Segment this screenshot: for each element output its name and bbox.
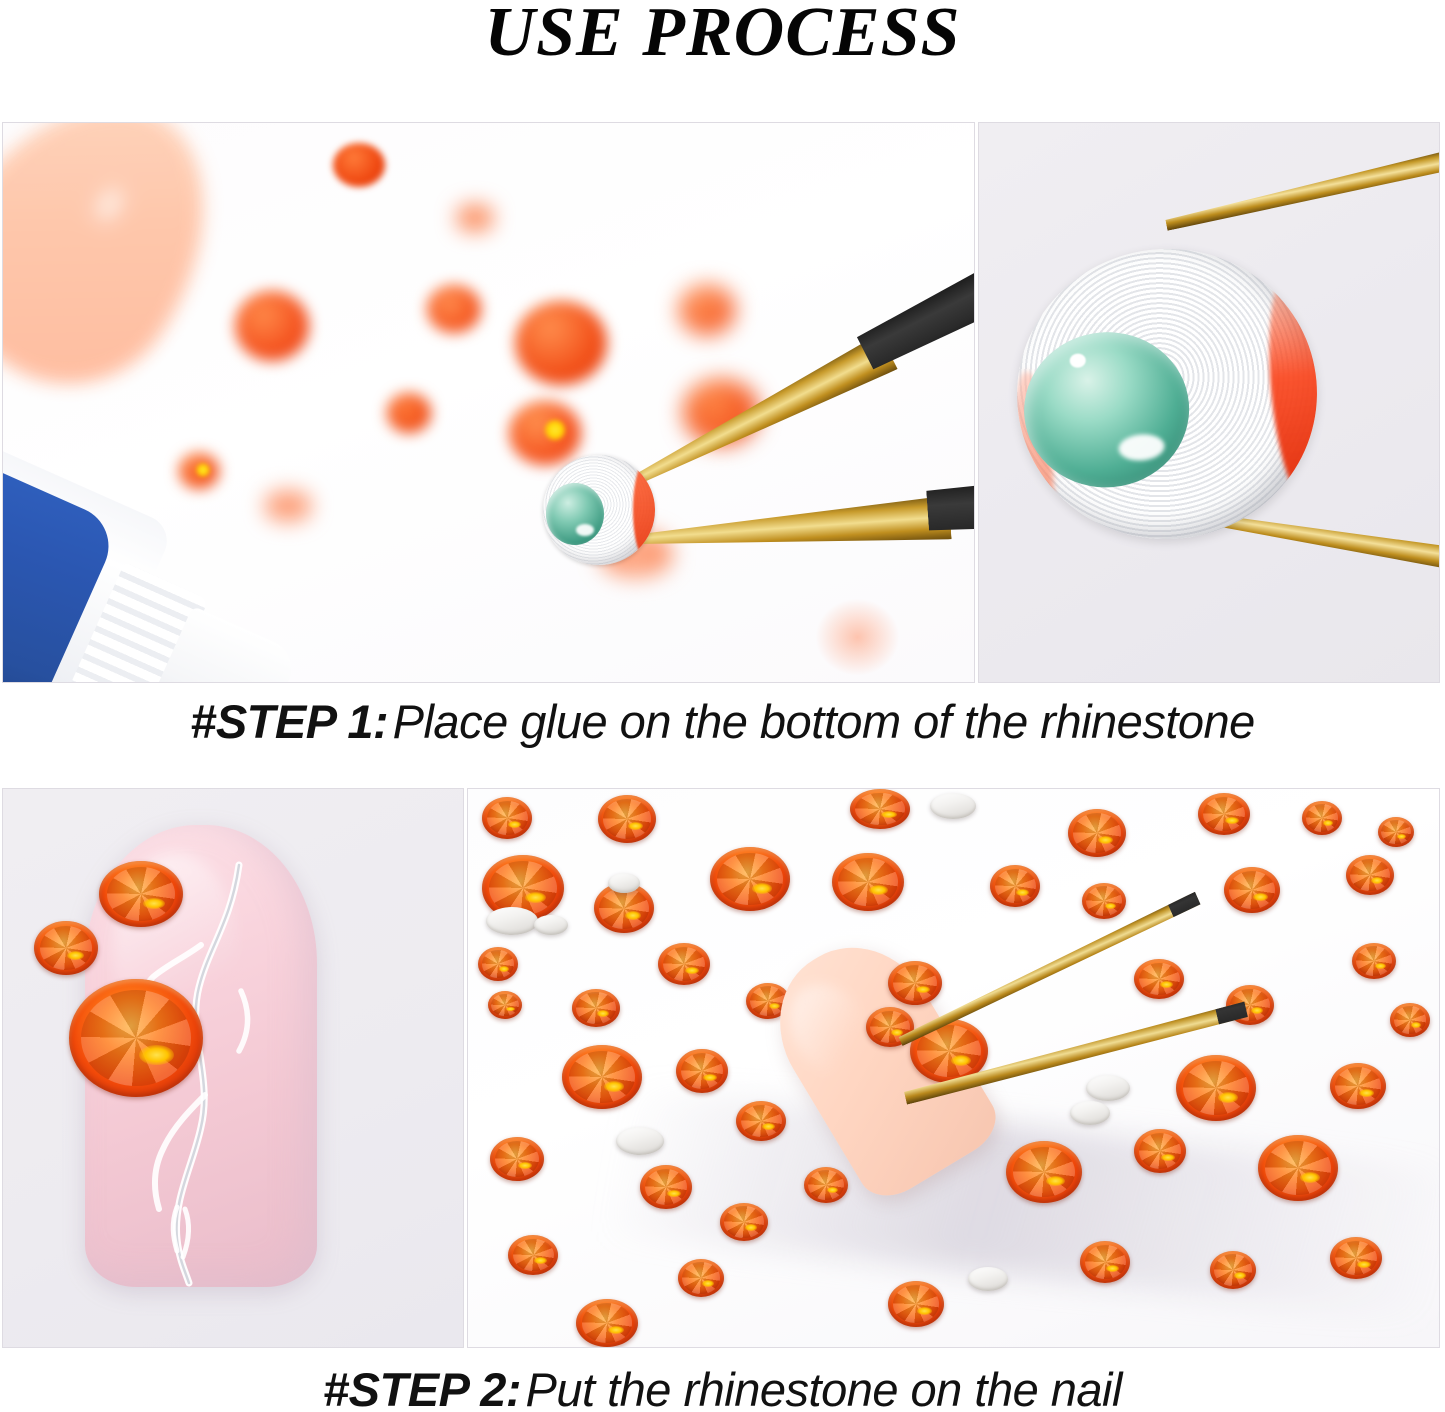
scattered-flatback (968, 1267, 1008, 1291)
scattered-rhinestone (850, 789, 910, 829)
scattered-rhinestone (1390, 1003, 1430, 1037)
bokeh-stone (235, 291, 309, 361)
scattered-rhinestone (1134, 959, 1184, 999)
scattered-flatback (608, 873, 640, 893)
scattered-rhinestone (572, 989, 620, 1027)
step-2-label: #STEP 2: (323, 1363, 521, 1412)
bokeh-stone (387, 393, 431, 433)
scattered-rhinestone (736, 1101, 786, 1141)
rhinestone-on-nail (69, 979, 203, 1097)
rhinestone-orange-rim (633, 461, 655, 559)
scattered-rhinestone (1352, 943, 1396, 979)
scattered-rhinestone (676, 1049, 728, 1093)
rhinestone-foil-back (543, 455, 655, 565)
step-1-image-row: R B (2, 122, 1443, 683)
scattered-rhinestone (508, 1235, 558, 1275)
rhinestone-on-nail (888, 961, 942, 1005)
scattered-rhinestone (1198, 793, 1250, 835)
panel-finished-nail (2, 788, 464, 1348)
glue-droplet (546, 483, 604, 545)
panel-glue-application: R B (2, 122, 975, 683)
scattered-flatback (486, 907, 538, 935)
scattered-rhinestone (1006, 1141, 1082, 1203)
scattered-rhinestone (1082, 883, 1126, 919)
scattered-rhinestone (490, 1137, 544, 1181)
bokeh-highlight (543, 419, 567, 441)
step-2-image-row (2, 788, 1443, 1348)
bokeh-stone (333, 143, 385, 187)
scattered-flatback (616, 1127, 664, 1155)
scattered-rhinestone (1258, 1135, 1338, 1201)
scattered-rhinestone (576, 1299, 638, 1347)
scattered-rhinestone (720, 1203, 768, 1241)
scattered-rhinestone (482, 797, 532, 839)
bokeh-stone (679, 285, 735, 335)
scattered-rhinestone (640, 1165, 692, 1209)
scattered-rhinestone (658, 943, 710, 985)
scattered-rhinestone (804, 1167, 848, 1203)
step-2-text: Put the rhinestone on the nail (526, 1363, 1122, 1412)
bokeh-stone (457, 205, 493, 231)
glue-highlight (1069, 353, 1086, 368)
step-1-caption: #STEP 1: Place glue on the bottom of the… (0, 694, 1445, 749)
scattered-rhinestone (1302, 801, 1342, 835)
scattered-flatback (534, 915, 568, 935)
scattered-rhinestone (1330, 1237, 1382, 1279)
panel-applying-rhinestone (467, 788, 1440, 1348)
scattered-rhinestone (1134, 1129, 1186, 1173)
step-1-label: #STEP 1: (190, 695, 388, 748)
scattered-rhinestone (488, 991, 522, 1019)
scattered-flatback (930, 793, 976, 819)
scattered-rhinestone (832, 853, 904, 911)
bokeh-highlight (195, 463, 211, 477)
scattered-rhinestone (562, 1045, 642, 1109)
bokeh-stone (265, 491, 311, 521)
scattered-rhinestone (1224, 867, 1280, 913)
scattered-rhinestone (1176, 1055, 1256, 1121)
scattered-rhinestone (1080, 1241, 1130, 1283)
panel-rhinestone-closeup (978, 122, 1440, 683)
scattered-rhinestone (678, 1259, 724, 1297)
bokeh-stone (427, 285, 481, 333)
scattered-flatback (1086, 1075, 1130, 1101)
scattered-rhinestone (990, 865, 1040, 907)
use-process-infographic: USE PROCESS (0, 0, 1445, 1412)
glue-highlight (1117, 433, 1165, 463)
scattered-rhinestone (1346, 855, 1394, 895)
scattered-flatback (1070, 1101, 1110, 1125)
scattered-rhinestone (888, 1281, 944, 1327)
scattered-rhinestone (1068, 809, 1126, 857)
rhinestone-on-nail (99, 861, 183, 927)
rhinestone-on-nail (34, 921, 98, 975)
page-title: USE PROCESS (0, 0, 1445, 72)
bokeh-stone (515, 301, 607, 385)
scattered-rhinestone (710, 847, 790, 911)
step-2-caption: #STEP 2: Put the rhinestone on the nail (0, 1362, 1445, 1412)
scattered-rhinestone (598, 795, 656, 843)
scattered-rhinestone (1210, 1251, 1256, 1289)
scattered-rhinestone (1330, 1063, 1386, 1109)
scattered-rhinestone (1378, 817, 1414, 847)
scattered-rhinestone (478, 947, 518, 981)
step-1-text: Place glue on the bottom of the rhinesto… (393, 695, 1255, 748)
